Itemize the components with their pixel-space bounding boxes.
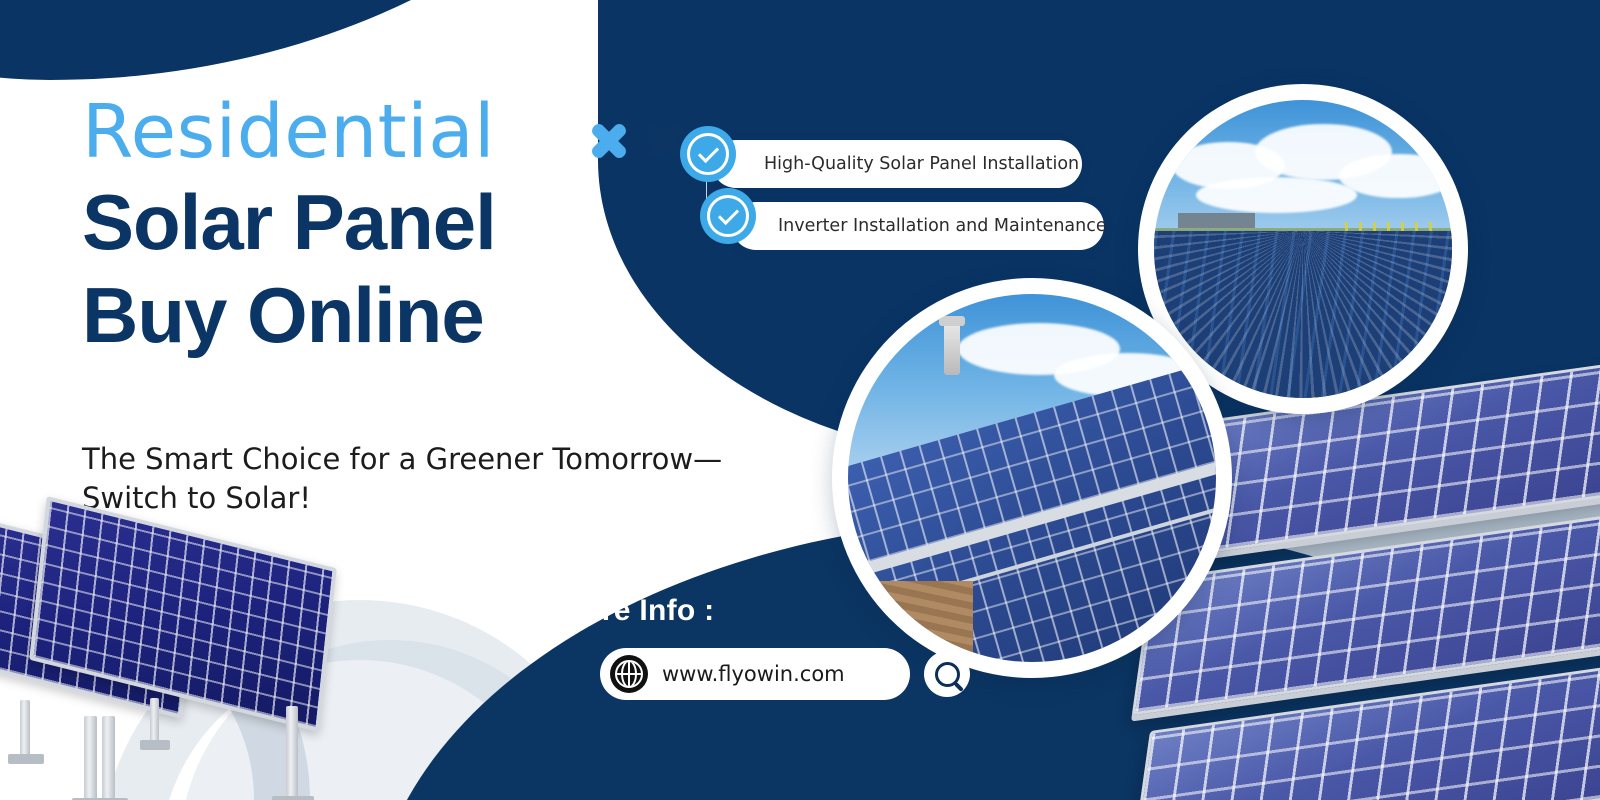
url-bar[interactable]: www.flyowin.com bbox=[600, 648, 910, 700]
solar-panel-array-left bbox=[0, 530, 380, 800]
check-circle-icon bbox=[700, 188, 756, 244]
navy-top-left-arc bbox=[0, 0, 700, 80]
feature-item[interactable]: High-Quality Solar Panel Installation bbox=[712, 140, 1082, 188]
mount-leg bbox=[102, 716, 115, 800]
feature-pill[interactable]: High-Quality Solar Panel Installation bbox=[712, 140, 1082, 188]
sparkle-x-icon-light bbox=[588, 120, 630, 162]
search-button[interactable] bbox=[924, 651, 970, 697]
cloud-shape bbox=[1196, 177, 1357, 213]
website-url: www.flyowin.com bbox=[662, 662, 845, 686]
feature-pill[interactable]: Inverter Installation and Maintenance bbox=[732, 202, 1104, 250]
globe-icon bbox=[610, 655, 648, 693]
feature-label: Inverter Installation and Maintenance bbox=[778, 216, 1107, 236]
headline-line-1: Solar Panel bbox=[82, 183, 702, 263]
mount-base bbox=[140, 740, 170, 750]
headline-line-2: Buy Online bbox=[82, 276, 702, 356]
url-row: www.flyowin.com bbox=[600, 648, 970, 700]
check-circle-icon bbox=[680, 126, 736, 182]
subtitle-text: The Smart Choice for a Greener Tomorrow—… bbox=[82, 440, 802, 517]
solar-promo-banner: Residential Solar Panel Buy Online The S… bbox=[0, 0, 1600, 800]
search-icon bbox=[935, 662, 960, 687]
worker-figures bbox=[1345, 222, 1434, 231]
cta-label: For More Info : bbox=[500, 594, 714, 628]
feature-list: High-Quality Solar Panel Installation In… bbox=[690, 140, 1104, 264]
mount-leg bbox=[20, 700, 30, 756]
mount-leg bbox=[286, 706, 298, 798]
feature-label: High-Quality Solar Panel Installation bbox=[764, 154, 1079, 174]
mount-base bbox=[272, 796, 314, 800]
photo-rooftop-solar-install bbox=[832, 278, 1232, 678]
mount-base bbox=[8, 754, 44, 764]
ground-mount-panel bbox=[29, 496, 337, 732]
chimney-vent bbox=[944, 323, 960, 375]
mount-leg bbox=[84, 716, 97, 800]
mount-leg bbox=[150, 698, 159, 742]
sparkle-group bbox=[588, 120, 686, 162]
feature-item[interactable]: Inverter Installation and Maintenance bbox=[732, 202, 1104, 250]
